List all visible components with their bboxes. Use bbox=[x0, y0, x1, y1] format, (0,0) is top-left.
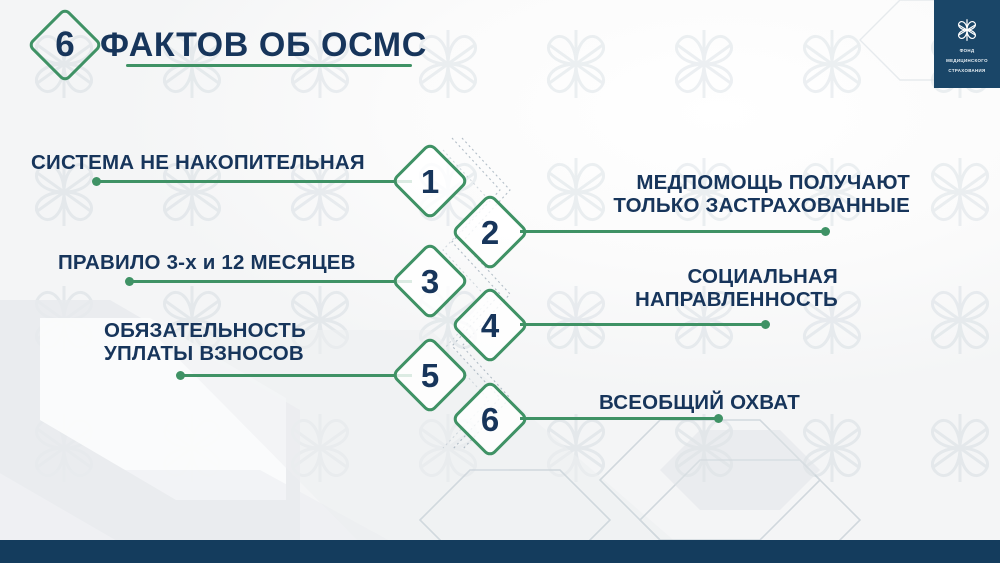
clover-flower-icon bbox=[952, 15, 982, 45]
fact-number-3: 3 bbox=[402, 253, 458, 309]
fact-diamond-3[interactable]: 3 bbox=[402, 253, 458, 309]
fact-label-6: ВСЕОБЩИЙ ОХВАТ bbox=[560, 392, 800, 415]
fact-label-4: СОЦИАЛЬНАЯ НАПРАВЛЕННОСТЬ bbox=[560, 266, 838, 312]
fact-label-5: ОБЯЗАТЕЛЬНОСТЬ УПЛАТЫ ВЗНОСОВ bbox=[104, 320, 424, 366]
slide-canvas: ФОНД МЕДИЦИНСКОГО СТРАХОВАНИЯ 6 ФАКТОВ О… bbox=[0, 0, 1000, 563]
organization-logo: ФОНД МЕДИЦИНСКОГО СТРАХОВАНИЯ bbox=[934, 0, 1000, 88]
fact-diamond-2[interactable]: 2 bbox=[462, 204, 518, 260]
fact-diamond-4[interactable]: 4 bbox=[462, 297, 518, 353]
logo-line-1: ФОНД bbox=[960, 48, 975, 55]
fact-number-2: 2 bbox=[462, 204, 518, 260]
page-title: ФАКТОВ ОБ ОСМС bbox=[100, 28, 427, 62]
bottom-accent-bar bbox=[0, 540, 1000, 563]
fact-diamond-1[interactable]: 1 bbox=[402, 153, 458, 209]
fact-line-6 bbox=[520, 417, 718, 420]
fact-number-5: 5 bbox=[402, 347, 458, 403]
fact-number-6: 6 bbox=[462, 391, 518, 447]
fact-diamond-6[interactable]: 6 bbox=[462, 391, 518, 447]
fact-dot-6 bbox=[714, 414, 723, 423]
logo-line-2: МЕДИЦИНСКОГО bbox=[946, 58, 988, 65]
fact-label-2: МЕДПОМОЩЬ ПОЛУЧАЮТ ТОЛЬКО ЗАСТРАХОВАННЫЕ bbox=[540, 172, 910, 218]
logo-line-3: СТРАХОВАНИЯ bbox=[948, 68, 985, 75]
fact-line-3 bbox=[129, 280, 412, 283]
title-underline bbox=[126, 64, 412, 67]
fact-number-1: 1 bbox=[402, 153, 458, 209]
title-badge-diamond: 6 bbox=[38, 18, 92, 72]
fact-line-1 bbox=[96, 180, 412, 183]
fact-line-2 bbox=[520, 230, 825, 233]
fact-dot-4 bbox=[761, 320, 770, 329]
fact-number-4: 4 bbox=[462, 297, 518, 353]
fact-diamond-5[interactable]: 5 bbox=[402, 347, 458, 403]
fact-label-3: ПРАВИЛО 3-х и 12 МЕСЯЦЕВ bbox=[58, 252, 418, 275]
fact-dot-2 bbox=[821, 227, 830, 236]
fact-line-4 bbox=[520, 323, 765, 326]
fact-label-1: СИСТЕМА НЕ НАКОПИТЕЛЬНАЯ bbox=[31, 152, 391, 175]
fact-line-5 bbox=[180, 374, 412, 377]
title-badge-number: 6 bbox=[38, 18, 92, 72]
